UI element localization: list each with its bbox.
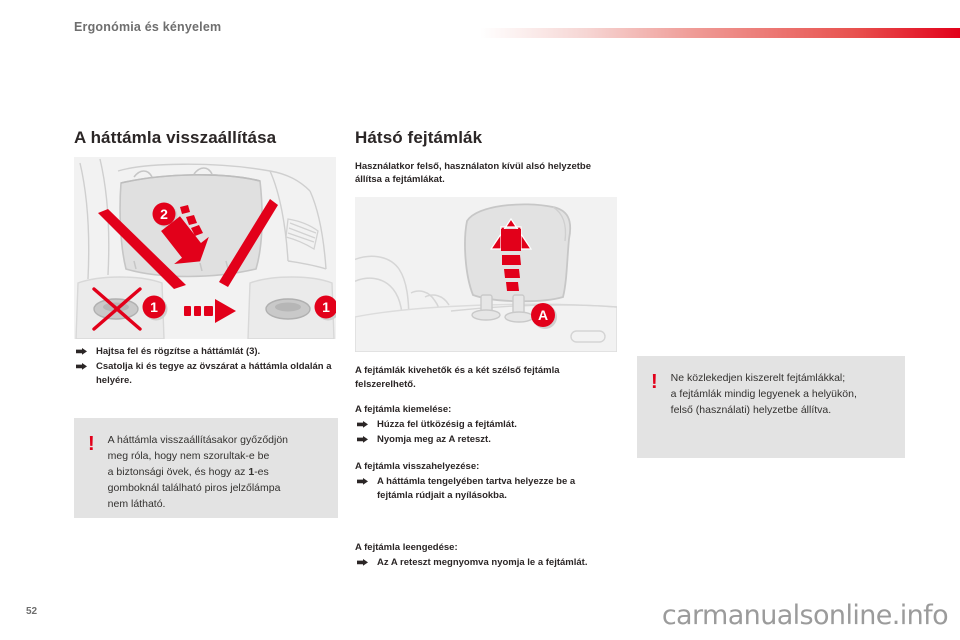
warning-text: A háttámla visszaállításakor győződjön m… [108,433,288,513]
exclamation-icon: ! [651,372,658,392]
arrow-bullet-icon [357,421,368,428]
list-item-text: A háttámla tengelyében tartva helyezze b… [377,476,575,501]
warning-line-2: a fejtámlák mindig legyenek a helyükön, [671,388,857,400]
list-item-text: Hajtsa fel és rögzítse a háttámlát (3). [96,346,260,357]
rear-seat-backrest-restore-illustration: 2 [74,157,336,339]
chapter-title: Ergonómia és kényelem [74,20,221,34]
list-item: Csatolja ki és tegye az övszárat a háttá… [74,360,332,388]
list-item-text: Csatolja ki és tegye az övszárat a háttá… [96,361,332,386]
list-item: Húzza fel ütközésig a fejtámlát. [355,418,613,432]
warning-box-backrest: ! A háttámla visszaállításakor győződjön… [74,418,338,518]
list-item: Nyomja meg az A reteszt. [355,433,613,447]
warning-text: Ne közlekedjen kiszerelt fejtámlákkal; a… [671,371,857,419]
left-section-heading: A háttámla visszaállítása [74,128,276,148]
exclamation-icon: ! [88,434,95,454]
warning-line-3-pre: a biztonsági övek, és hogy az [108,466,249,478]
warning-line-2: meg róla, hogy nem szorultak-e be [108,450,270,462]
list-item: Az A reteszt megnyomva nyomja le a fejtá… [355,556,613,570]
watermark: carmanualsonline.info [662,600,948,631]
section-label: A fejtámla kiemelése: [355,403,613,417]
warning-line-5: nem látható. [108,498,166,510]
header-accent-bar [480,28,960,38]
warning-box-headrest: ! Ne közlekedjen kiszerelt fejtámlákkal;… [637,356,905,458]
arrow-bullet-icon [76,363,87,370]
headrest-lower-section: A fejtámla leengedése: Az A reteszt megn… [355,541,613,571]
arrow-bullet-icon [357,559,368,566]
section-label: A fejtámla visszahelyezése: [355,460,613,474]
section-label: A fejtámla leengedése: [355,541,613,555]
list-item-text: Húzza fel ütközésig a fejtámlát. [377,419,517,430]
page-number: 52 [26,606,37,617]
list-item: Hajtsa fel és rögzítse a háttámlát (3). [74,345,332,359]
middle-section-lede: Használatkor felső, használaton kívül al… [355,160,605,187]
warning-line-4: gomboknál található piros jelzőlámpa [108,482,281,494]
middle-section-heading: Hátsó fejtámlák [355,128,482,148]
arrow-bullet-icon [76,348,87,355]
rear-headrest-illustration: A [355,197,617,352]
middle-intro-paragraph: A fejtámlák kivehetők és a két szélső fe… [355,364,613,392]
list-item-text: Az A reteszt megnyomva nyomja le a fejtá… [377,557,587,568]
manual-page: Ergonómia és kényelem A háttámla visszaá… [0,0,960,640]
middle-intro-text: A fejtámlák kivehetők és a két szélső fe… [355,364,613,393]
svg-text:1: 1 [150,299,158,315]
list-item: A háttámla tengelyében tartva helyezze b… [355,475,613,503]
warning-line-3: felső (használati) helyzetbe állítva. [671,404,832,416]
warning-line-1: A háttámla visszaállításakor győződjön [108,434,288,446]
list-item-text: Nyomja meg az A reteszt. [377,434,491,445]
headrest-refit-section: A fejtámla visszahelyezése: A háttámla t… [355,460,613,503]
svg-text:1: 1 [322,299,330,315]
svg-text:A: A [538,307,548,323]
svg-text:2: 2 [160,206,168,222]
arrow-bullet-icon [357,478,368,485]
arrow-bullet-icon [357,436,368,443]
warning-line-3-post: -es [254,466,269,478]
headrest-remove-section: A fejtámla kiemelése: Húzza fel ütközési… [355,403,613,447]
left-bullet-list: Hajtsa fel és rögzítse a háttámlát (3). … [74,345,332,388]
warning-line-1: Ne közlekedjen kiszerelt fejtámlákkal; [671,372,846,384]
